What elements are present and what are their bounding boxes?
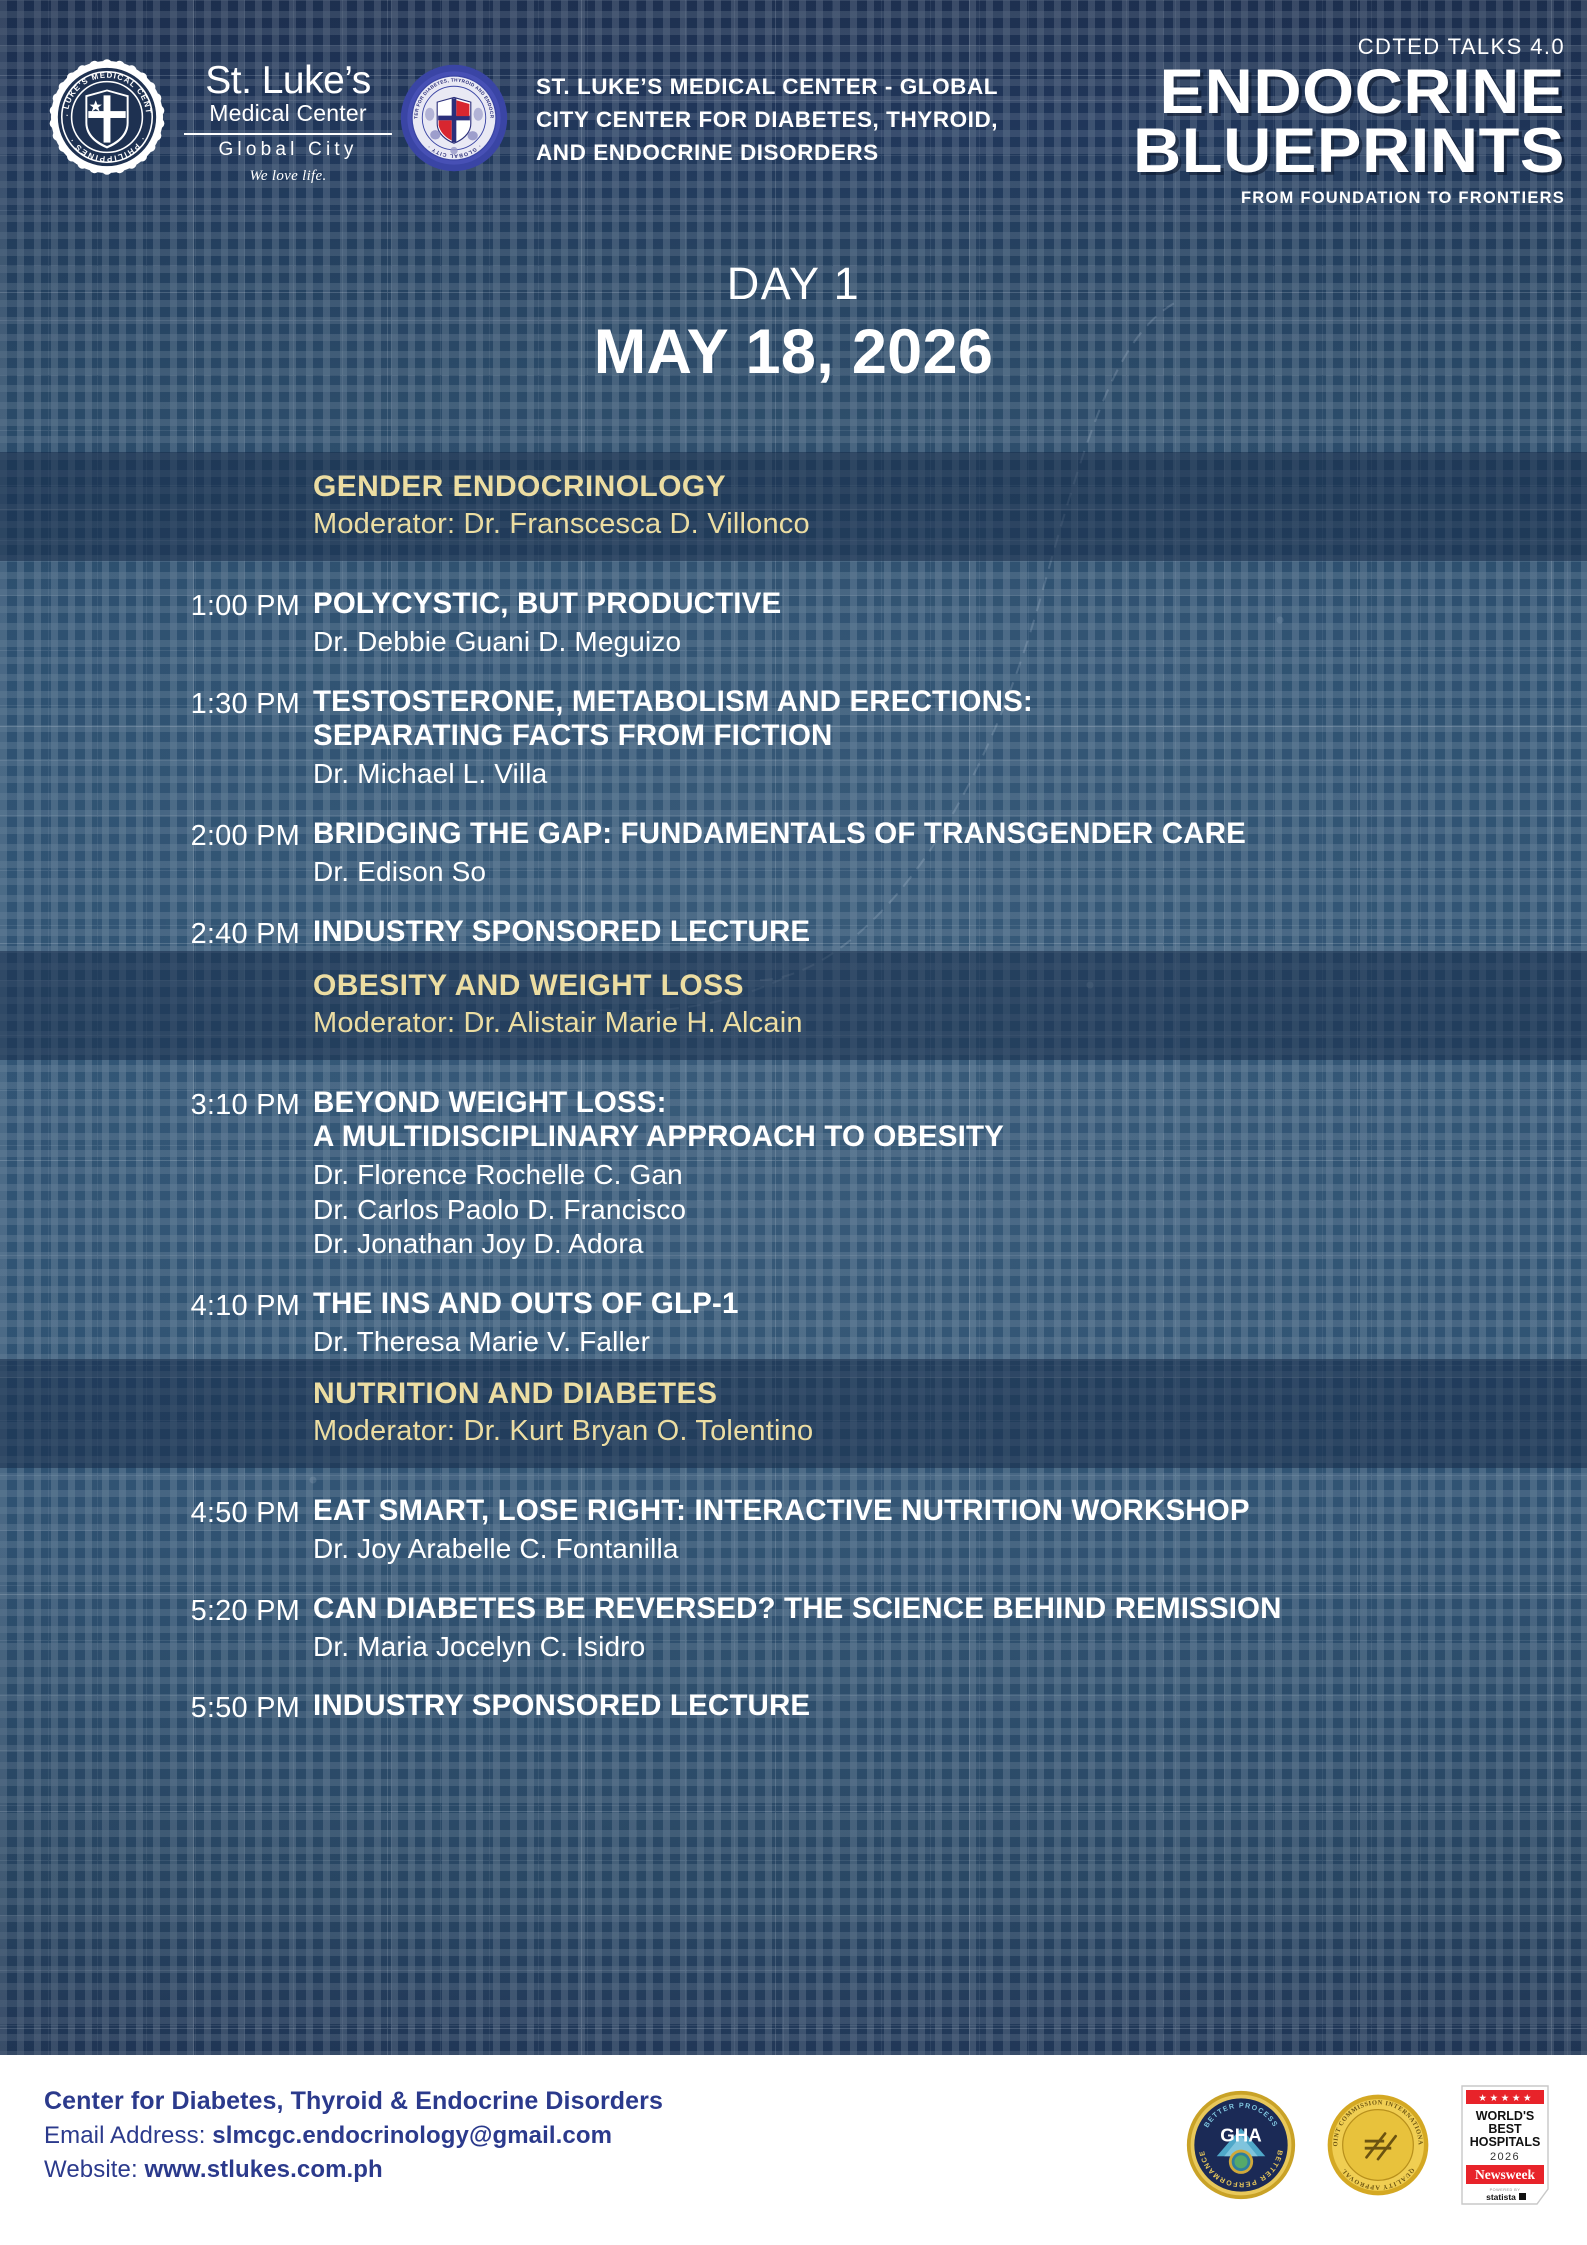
event-brand-lockup: CDTED TALKS 4.0 ENDOCRINE BLUEPRINTS FRO… <box>1045 34 1565 208</box>
slmc-divider-rule <box>184 133 392 135</box>
day-date-header: DAY 1 MAY 18, 2026 <box>0 258 1587 388</box>
center-name-title: ST. LUKE’S MEDICAL CENTER - GLOBAL CITY … <box>536 70 1006 169</box>
schedule-row: 2:40 PMINDUSTRY SPONSORED LECTURE <box>0 889 1587 951</box>
session-speaker: Dr. Jonathan Joy D. Adora <box>313 1227 1553 1261</box>
session-speaker: Dr. Florence Rochelle C. Gan <box>313 1158 1553 1192</box>
session-time: 2:00 PM <box>0 817 300 889</box>
svg-text:WORLD'S: WORLD'S <box>1476 2109 1535 2123</box>
footer-website-value[interactable]: www.stlukes.com.ph <box>145 2156 383 2183</box>
session-body: INDUSTRY SPONSORED LECTURE <box>300 1689 1587 1725</box>
cdted-seal: ST. LUKE'S CENTER FOR DIABETES, THYROID … <box>398 62 510 174</box>
section-title: GENDER ENDOCRINOLOGY <box>313 470 1587 504</box>
footer-website-label: Website: <box>44 2156 138 2183</box>
slmc-line-2: Medical Center <box>178 99 398 131</box>
session-time: 4:10 PM <box>0 1287 300 1359</box>
joint-commission-international-badge: JOINT COMMISSION INTERNATIONAL QUALITY A… <box>1325 2092 1431 2198</box>
day-date: MAY 18, 2026 <box>0 316 1587 388</box>
footer-contact-block: Center for Diabetes, Thyroid & Endocrine… <box>44 2087 663 2184</box>
session-title: EAT SMART, LOSE RIGHT: INTERACTIVE NUTRI… <box>313 1494 1553 1528</box>
brand-title-line-2: BLUEPRINTS <box>1014 122 1565 181</box>
section-header-inner: GENDER ENDOCRINOLOGYModerator: Dr. Frans… <box>0 470 1587 541</box>
schedule-section-header: GENDER ENDOCRINOLOGYModerator: Dr. Frans… <box>0 452 1587 561</box>
session-title: BEYOND WEIGHT LOSS: <box>313 1086 1553 1120</box>
session-body: CAN DIABETES BE REVERSED? THE SCIENCE BE… <box>300 1592 1587 1664</box>
session-time: 2:40 PM <box>0 915 300 951</box>
footer-email-line: Email Address: slmcgc.endocrinology@gmai… <box>44 2122 663 2150</box>
footer-org-name: Center for Diabetes, Thyroid & Endocrine… <box>44 2087 663 2116</box>
slmc-line-3: Global City <box>178 139 398 161</box>
schedule-row: 1:00 PMPOLYCYSTIC, BUT PRODUCTIVEDr. Deb… <box>0 561 1587 659</box>
section-title: NUTRITION AND DIABETES <box>313 1377 1587 1411</box>
slmc-tagline: We love life. <box>178 168 398 185</box>
schedule-row: 2:00 PMBRIDGING THE GAP: FUNDAMENTALS OF… <box>0 791 1587 889</box>
session-body: BEYOND WEIGHT LOSS:A MULTIDISCIPLINARY A… <box>300 1086 1587 1261</box>
session-title: A MULTIDISCIPLINARY APPROACH TO OBESITY <box>313 1120 1553 1154</box>
schedule-section-header: OBESITY AND WEIGHT LOSSModerator: Dr. Al… <box>0 951 1587 1060</box>
poster-canvas: ST. LUKE'S MEDICAL CENTER · PHILIPPINES … <box>0 0 1587 2245</box>
schedule-row: 4:10 PMTHE INS AND OUTS OF GLP-1Dr. Ther… <box>0 1261 1587 1359</box>
brand-tagline: FROM FOUNDATION TO FRONTIERS <box>1045 189 1565 208</box>
session-speaker: Dr. Maria Jocelyn C. Isidro <box>313 1630 1553 1664</box>
session-title: CAN DIABETES BE REVERSED? THE SCIENCE BE… <box>313 1592 1553 1626</box>
schedule-row: 3:10 PMBEYOND WEIGHT LOSS:A MULTIDISCIPL… <box>0 1060 1587 1261</box>
session-speaker: Dr. Joy Arabelle C. Fontanilla <box>313 1532 1553 1566</box>
slmc-line-1: St. Luke’s <box>178 62 398 99</box>
session-time: 5:20 PM <box>0 1592 300 1664</box>
session-time: 1:30 PM <box>0 685 300 791</box>
svg-text:statista: statista <box>1486 2192 1516 2202</box>
svg-text:2026: 2026 <box>1490 2151 1520 2163</box>
svg-text:BEST: BEST <box>1488 2122 1522 2136</box>
session-speaker: Dr. Theresa Marie V. Faller <box>313 1325 1553 1359</box>
session-time: 5:50 PM <box>0 1689 300 1725</box>
schedule-row: 4:50 PMEAT SMART, LOSE RIGHT: INTERACTIV… <box>0 1468 1587 1566</box>
section-header-inner: NUTRITION AND DIABETESModerator: Dr. Kur… <box>0 1377 1587 1448</box>
session-body: EAT SMART, LOSE RIGHT: INTERACTIVE NUTRI… <box>300 1494 1587 1566</box>
section-title: OBESITY AND WEIGHT LOSS <box>313 969 1587 1003</box>
accreditation-badges: GHA BETTER PROCESS BETTER PERFORMANCE <box>1185 2083 1551 2207</box>
schedule-row: 5:20 PMCAN DIABETES BE REVERSED? THE SCI… <box>0 1566 1587 1664</box>
session-body: TESTOSTERONE, METABOLISM AND ERECTIONS:S… <box>300 685 1587 791</box>
poster-header: ST. LUKE'S MEDICAL CENTER · PHILIPPINES … <box>0 0 1587 225</box>
session-time: 3:10 PM <box>0 1086 300 1261</box>
footer-email-label: Email Address: <box>44 2122 205 2149</box>
poster-footer: Center for Diabetes, Thyroid & Endocrine… <box>0 2055 1587 2245</box>
session-title: THE INS AND OUTS OF GLP-1 <box>313 1287 1553 1321</box>
footer-website-line: Website: www.stlukes.com.ph <box>44 2156 663 2184</box>
section-header-inner: OBESITY AND WEIGHT LOSSModerator: Dr. Al… <box>0 969 1587 1040</box>
session-body: INDUSTRY SPONSORED LECTURE <box>300 915 1587 951</box>
st-lukes-wordmark: St. Luke’s Medical Center Global City We… <box>178 62 398 185</box>
section-moderator: Moderator: Dr. Franscesca D. Villonco <box>313 508 1587 541</box>
gha-accreditation-badge: GHA BETTER PROCESS BETTER PERFORMANCE <box>1185 2089 1297 2201</box>
newsweek-worlds-best-hospitals-badge: ★ ★ ★ ★ ★ WORLD'S BEST HOSPITALS 2026 Ne… <box>1459 2083 1551 2207</box>
schedule-row: 1:30 PMTESTOSTERONE, METABOLISM AND EREC… <box>0 659 1587 791</box>
day-label: DAY 1 <box>0 258 1587 310</box>
session-speaker: Dr. Edison So <box>313 855 1553 889</box>
schedule-section-header: NUTRITION AND DIABETESModerator: Dr. Kur… <box>0 1359 1587 1468</box>
session-speaker: Dr. Debbie Guani D. Meguizo <box>313 625 1553 659</box>
svg-text:★ ★ ★ ★ ★: ★ ★ ★ ★ ★ <box>1478 2093 1532 2104</box>
session-speaker: Dr. Michael L. Villa <box>313 757 1553 791</box>
schedule-row: 5:50 PMINDUSTRY SPONSORED LECTURE <box>0 1663 1587 1725</box>
footer-email-value[interactable]: slmcgc.endocrinology@gmail.com <box>212 2122 612 2149</box>
session-body: POLYCYSTIC, BUT PRODUCTIVEDr. Debbie Gua… <box>300 587 1587 659</box>
session-speaker: Dr. Carlos Paolo D. Francisco <box>313 1193 1553 1227</box>
st-lukes-medical-center-seal: ST. LUKE'S MEDICAL CENTER · PHILIPPINES … <box>48 58 166 176</box>
session-title: INDUSTRY SPONSORED LECTURE <box>313 915 1553 949</box>
brand-title-line-1: ENDOCRINE <box>1014 63 1565 122</box>
section-moderator: Moderator: Dr. Alistair Marie H. Alcain <box>313 1007 1587 1040</box>
schedule-list: GENDER ENDOCRINOLOGYModerator: Dr. Frans… <box>0 452 1587 1725</box>
session-title: SEPARATING FACTS FROM FICTION <box>313 719 1553 753</box>
session-title: TESTOSTERONE, METABOLISM AND ERECTIONS: <box>313 685 1553 719</box>
session-title: BRIDGING THE GAP: FUNDAMENTALS OF TRANSG… <box>313 817 1553 851</box>
svg-text:GHA: GHA <box>1220 2124 1261 2145</box>
session-body: BRIDGING THE GAP: FUNDAMENTALS OF TRANSG… <box>300 817 1587 889</box>
session-title: INDUSTRY SPONSORED LECTURE <box>313 1689 1553 1723</box>
session-title: POLYCYSTIC, BUT PRODUCTIVE <box>313 587 1553 621</box>
svg-text:HOSPITALS: HOSPITALS <box>1470 2135 1541 2149</box>
session-time: 4:50 PM <box>0 1494 300 1566</box>
section-moderator: Moderator: Dr. Kurt Bryan O. Tolentino <box>313 1415 1587 1448</box>
session-body: THE INS AND OUTS OF GLP-1Dr. Theresa Mar… <box>300 1287 1587 1359</box>
session-time: 1:00 PM <box>0 587 300 659</box>
svg-text:Newsweek: Newsweek <box>1475 2167 1535 2182</box>
